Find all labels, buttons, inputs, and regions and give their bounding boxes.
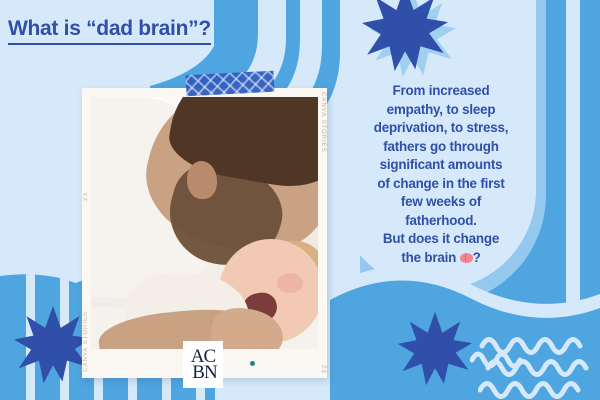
- paragraph-line: significant amounts: [350, 156, 532, 175]
- poster-canvas: What is “dad brain”? CANVA STORIES 23 CA…: [0, 0, 600, 400]
- brand-logo: AC BN: [183, 341, 223, 388]
- paragraph-line: few weeks of: [350, 193, 532, 212]
- paragraph-line-final: the brain ?: [350, 249, 532, 268]
- paragraph-line: fatherhood.: [350, 212, 532, 231]
- paragraph-trailing: ?: [473, 250, 481, 265]
- squiggle-line-accent: [470, 346, 530, 372]
- paragraph-line: empathy, to sleep: [350, 101, 532, 120]
- paragraph-line: of change in the first: [350, 175, 532, 194]
- paragraph-line: But does it change: [350, 230, 532, 249]
- photo-image: [91, 97, 318, 349]
- brain-icon: [460, 253, 473, 263]
- photo-father-ear: [187, 161, 217, 199]
- page-title: What is “dad brain”?: [8, 17, 211, 45]
- paragraph-line: deprivation, to stress,: [350, 119, 532, 138]
- body-paragraph: From increased empathy, to sleep depriva…: [350, 82, 532, 267]
- watermark-right-number: 23: [320, 365, 326, 374]
- paragraph-line: From increased: [350, 82, 532, 101]
- watermark-right-brand: CANVA STORIES: [320, 92, 326, 153]
- watermark-left-number: 23: [83, 192, 89, 201]
- frame-dot: [250, 361, 255, 366]
- paragraph-line: fathers go through: [350, 138, 532, 157]
- photo-baby-cheek: [277, 273, 303, 293]
- paragraph-line-text: the brain: [401, 250, 456, 265]
- watermark-left-brand: CANVA STORIES: [83, 311, 89, 372]
- photo-card: CANVA STORIES 23 CANVA STORIES 23: [82, 88, 327, 378]
- logo-line-2: BN: [192, 365, 216, 381]
